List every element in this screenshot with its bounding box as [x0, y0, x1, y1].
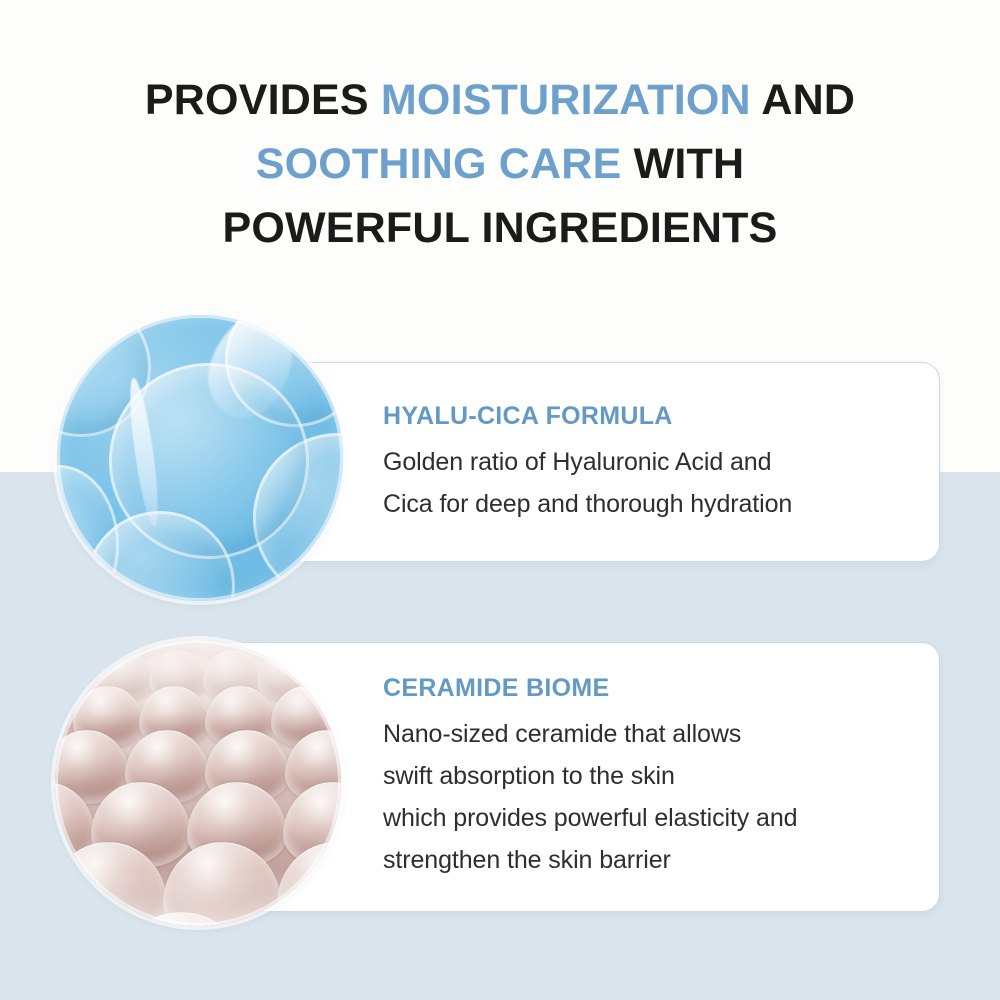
- card-body: CERAMIDE BIOME Nano-sized ceramide that …: [383, 643, 913, 911]
- headline-highlight-moisturization: MOISTURIZATION: [381, 76, 751, 124]
- headline-text-with: WITH: [621, 140, 744, 188]
- headline-line-1: PROVIDES MOISTURIZATION AND: [0, 68, 1000, 132]
- headline-text-and: AND: [751, 76, 855, 124]
- ceramide-bottom-fade: [55, 870, 341, 926]
- card-description-line: Cica for deep and thorough hydration: [383, 483, 913, 525]
- ceramide-artwork: [55, 640, 341, 926]
- card-body: HYALU-CICA FORMULA Golden ratio of Hyalu…: [383, 363, 913, 561]
- ceramide-top-fade: [55, 640, 341, 726]
- card-description-line: which provides powerful elasticity and: [383, 797, 913, 839]
- headline-line-2: SOOTHING CARE WITH: [0, 132, 1000, 196]
- card-title-ceramide-biome: CERAMIDE BIOME: [383, 674, 913, 703]
- infographic-page: PROVIDES MOISTURIZATION AND SOOTHING CAR…: [0, 0, 1000, 1000]
- card-description-ceramide-biome: Nano-sized ceramide that allows swift ab…: [383, 713, 913, 881]
- page-title: PROVIDES MOISTURIZATION AND SOOTHING CAR…: [0, 68, 1000, 260]
- card-description-line: Nano-sized ceramide that allows: [383, 713, 913, 755]
- card-description-line: swift absorption to the skin: [383, 755, 913, 797]
- card-description-line: strengthen the skin barrier: [383, 839, 913, 881]
- gel-artwork: [57, 315, 343, 601]
- headline-line-3: POWERFUL INGREDIENTS: [0, 196, 1000, 260]
- card-description-hyalu-cica: Golden ratio of Hyaluronic Acid and Cica…: [383, 441, 913, 525]
- blue-gel-bubbles-image: [57, 315, 343, 601]
- ceramide-dome-texture-image: [55, 640, 341, 926]
- card-description-line: Golden ratio of Hyaluronic Acid and: [383, 441, 913, 483]
- headline-highlight-soothing-care: SOOTHING CARE: [256, 140, 622, 188]
- headline-text-provides: PROVIDES: [145, 76, 381, 124]
- card-title-hyalu-cica: HYALU-CICA FORMULA: [383, 402, 913, 431]
